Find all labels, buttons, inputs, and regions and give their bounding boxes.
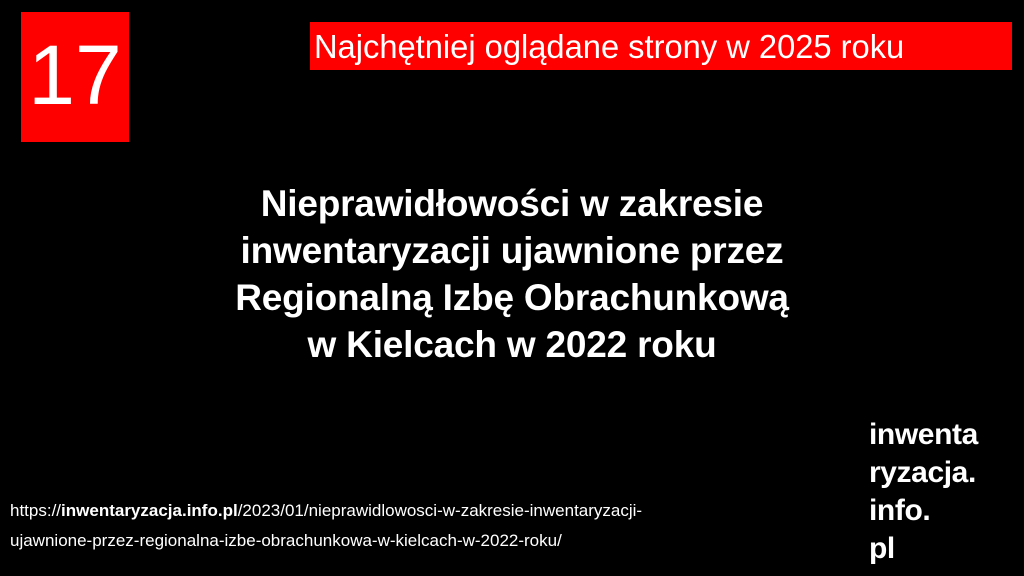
site-logo-line-2: ryzacja. — [869, 454, 978, 492]
source-url-scheme: https:// — [10, 501, 61, 520]
site-logo[interactable]: inwenta ryzacja. info. pl — [869, 416, 978, 568]
site-logo-line-3: info. — [869, 492, 978, 530]
site-logo-line-1: inwenta — [869, 416, 978, 454]
article-title-line-2: inwentaryzacji ujawnione przez — [92, 227, 932, 274]
article-title: Nieprawidłowości w zakresie inwentaryzac… — [92, 180, 932, 368]
article-title-line-3: Regionalną Izbę Obrachunkową — [92, 274, 932, 321]
source-url[interactable]: https://inwentaryzacja.info.pl/2023/01/n… — [10, 496, 800, 556]
series-banner-label: Najchętniej oglądane strony w 2025 roku — [310, 30, 904, 63]
source-url-line-2: ujawnione-przez-regionalna-izbe-obrachun… — [10, 526, 800, 556]
source-url-path-part-1: /2023/01/nieprawidlowosci-w-zakresie-inw… — [238, 501, 642, 520]
article-title-line-1: Nieprawidłowości w zakresie — [92, 180, 932, 227]
rank-number: 17 — [28, 33, 121, 117]
site-logo-line-4: pl — [869, 530, 978, 568]
article-title-line-4: w Kielcach w 2022 roku — [92, 321, 932, 368]
series-banner: Najchętniej oglądane strony w 2025 roku — [310, 22, 1012, 70]
source-url-line-1: https://inwentaryzacja.info.pl/2023/01/n… — [10, 496, 800, 526]
source-url-domain: inwentaryzacja.info.pl — [61, 501, 238, 520]
rank-badge: 17 — [21, 12, 129, 142]
